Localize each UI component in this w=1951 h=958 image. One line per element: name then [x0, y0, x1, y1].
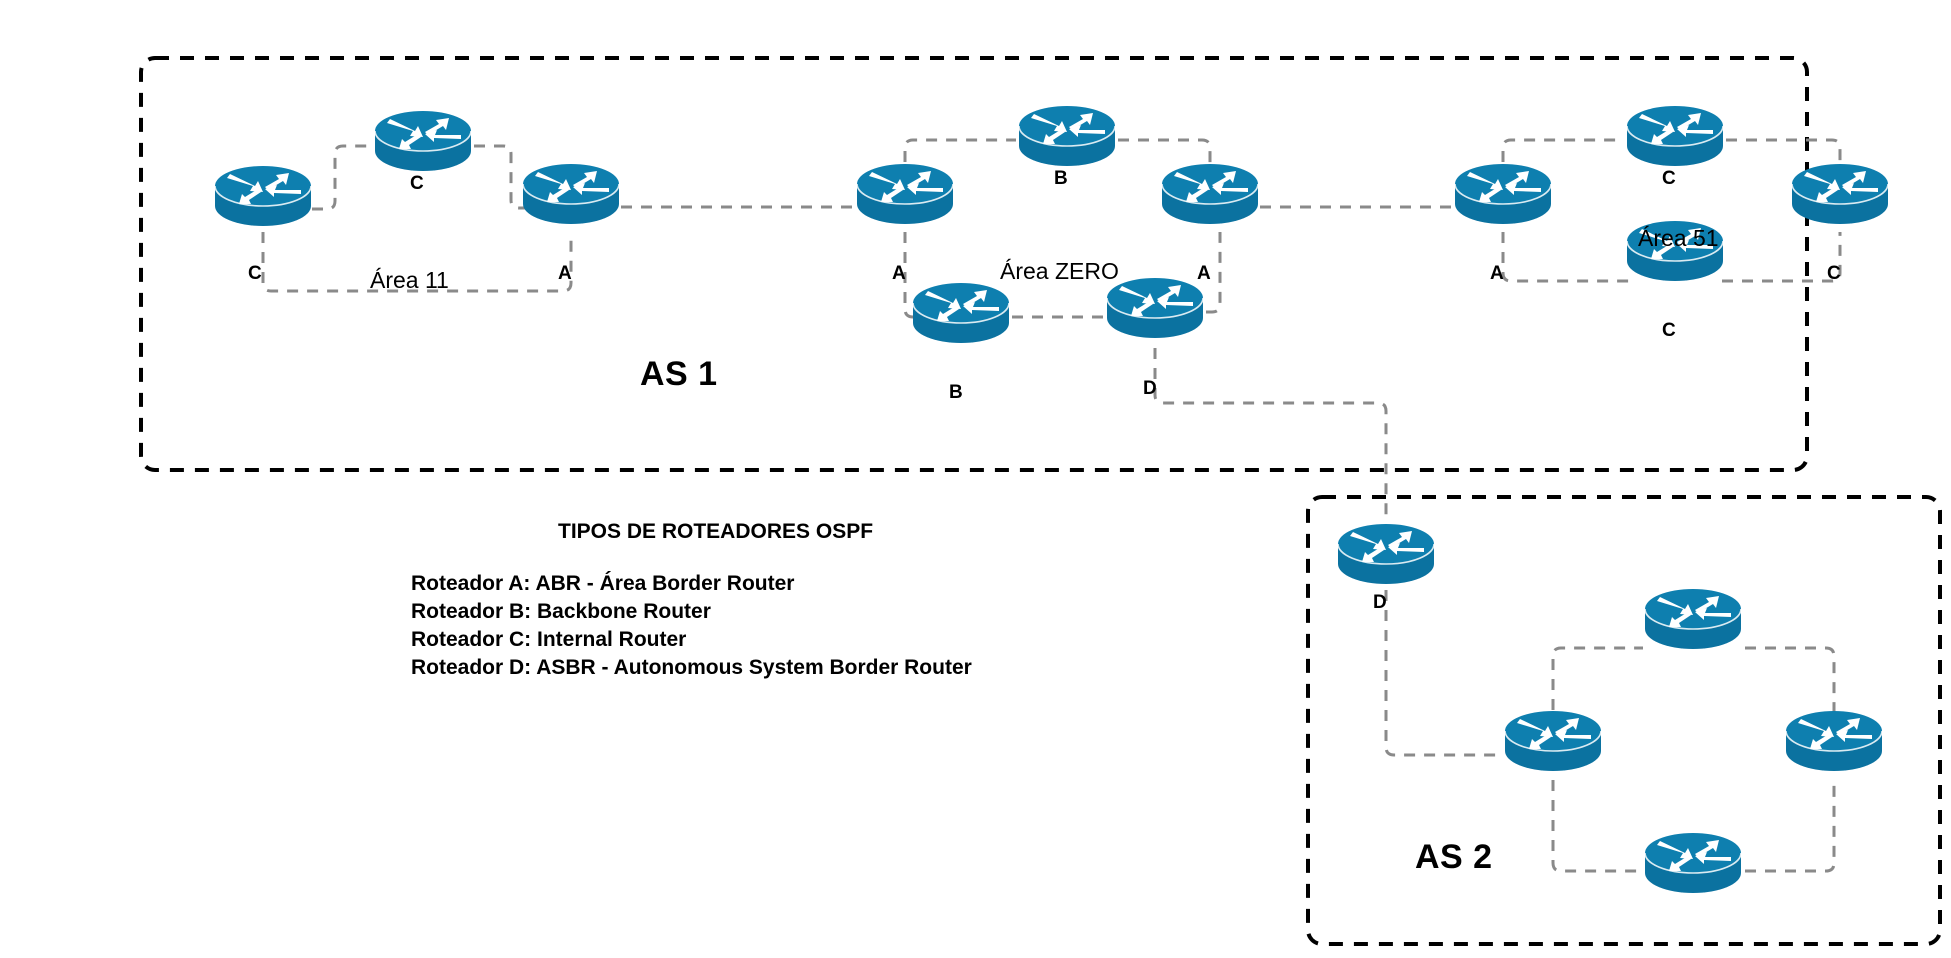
router-label-a51-c-bottom: C: [1662, 320, 1676, 342]
area-label-area51: Área 51: [1638, 225, 1719, 252]
router-icon-a11-c-left: [215, 166, 311, 226]
link-as2rbottom-as2rright: [1745, 780, 1834, 871]
router-label-a11-c-top: C: [410, 173, 424, 195]
router-label-a51-c-top: C: [1662, 168, 1676, 190]
router-label-az-a-left: A: [892, 263, 906, 285]
area-label-area11: Área 11: [370, 267, 449, 294]
legend-title: TIPOS DE ROTEADORES OSPF: [558, 520, 873, 544]
router-label-as2-d: D: [1373, 592, 1387, 614]
router-icon-as2-r-top: [1645, 589, 1741, 649]
router-label-az-b-bottom: B: [949, 382, 963, 404]
router-icon-a51-c-top: [1627, 106, 1723, 166]
network-diagram-canvas: AS 1 AS 2 Área 11 Área ZERO Área 51 C C …: [0, 0, 1951, 958]
link-asbr1-asbr2: [1155, 348, 1386, 518]
router-icon-az-a-right: [1162, 164, 1258, 224]
link-a11cleft-a11ctop: [312, 146, 372, 209]
router-label-a11-a-right: A: [558, 263, 572, 285]
legend-item-router-b: Roteador B: Backbone Router: [411, 600, 711, 624]
router-icon-as2-r-left: [1505, 711, 1601, 771]
router-label-a51-c-right: C: [1827, 263, 1841, 285]
legend-item-router-c: Roteador C: Internal Router: [411, 628, 686, 652]
link-as2d-as2rleft: [1386, 590, 1503, 755]
router-icon-as2-d: [1338, 524, 1434, 584]
router-label-a51-a-left: A: [1490, 263, 1504, 285]
as2-links: [1386, 590, 1834, 871]
link-a51aleft-a51cbottom: [1503, 232, 1630, 281]
router-label-az-d-bottom: D: [1143, 378, 1157, 400]
router-icon-a51-a-left: [1455, 164, 1551, 224]
router-icon-a11-c-top: [375, 111, 471, 171]
router-label-a11-c-left: C: [248, 263, 262, 285]
inter-as-links: [1155, 348, 1386, 518]
as-label-as2: AS 2: [1415, 838, 1493, 877]
router-icon-az-b-top: [1019, 106, 1115, 166]
diagram-vector-layer: [0, 0, 1951, 958]
router-icon-a11-a-right: [523, 164, 619, 224]
legend-item-router-a: Roteador A: ABR - Área Border Router: [411, 572, 794, 596]
router-label-az-a-right: A: [1197, 263, 1211, 285]
router-label-az-b-top: B: [1054, 168, 1068, 190]
router-icon-az-b-bottom: [913, 283, 1009, 343]
router-icon-az-a-left: [857, 164, 953, 224]
router-icon-a51-c-right: [1792, 164, 1888, 224]
link-as2rleft-as2rbottom: [1553, 780, 1643, 871]
legend-item-router-d: Roteador D: ASBR - Autonomous System Bor…: [411, 656, 972, 680]
as-label-as1: AS 1: [640, 355, 718, 394]
router-icon-as2-r-bottom: [1645, 833, 1741, 893]
link-a51cbottom-a51cright: [1722, 232, 1840, 281]
router-icon-as2-r-right: [1786, 711, 1882, 771]
area-label-areazero: Área ZERO: [1000, 258, 1119, 285]
router-icon-az-d-bottom: [1107, 278, 1203, 338]
